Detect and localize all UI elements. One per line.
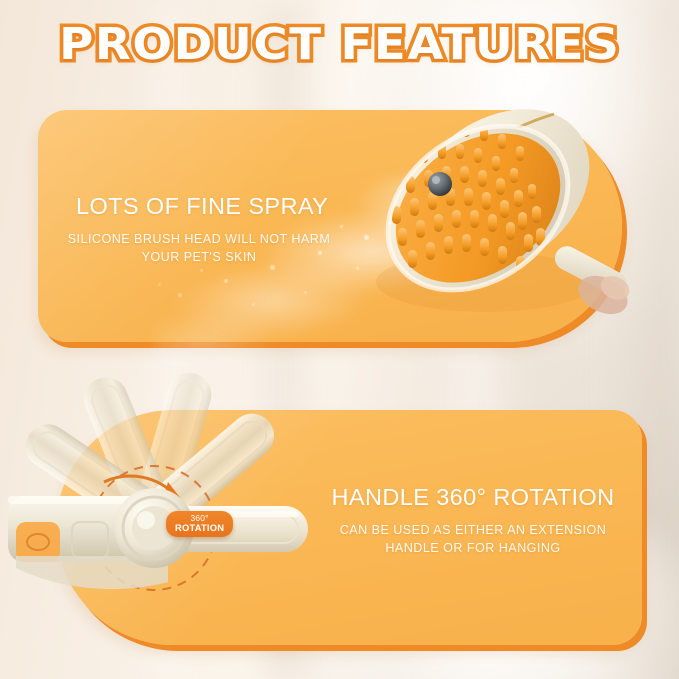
badge-label: ROTATION: [175, 523, 224, 533]
feature-2-subtitle: CAN BE USED AS EITHER AN EXTENSION HANDL…: [328, 522, 618, 558]
feature-1-text: LOTS OF FINE SPRAY SILICONE BRUSH HEAD W…: [54, 193, 344, 267]
feature-2-heading: HANDLE 360° ROTATION: [328, 484, 618, 511]
product-features-infographic: PRODUCT FEATURES: [0, 0, 679, 679]
title-container: PRODUCT FEATURES: [0, 22, 679, 68]
feature-1-subtitle-line-2: YOUR PET'S SKIN: [142, 250, 257, 264]
feature-1-subtitle: SILICONE BRUSH HEAD WILL NOT HARM YOUR P…: [54, 231, 344, 267]
feature-2-text: HANDLE 360° ROTATION CAN BE USED AS EITH…: [328, 484, 618, 558]
feature-2-subtitle-line-2: HANDLE OR FOR HANGING: [385, 541, 560, 555]
badge-360-rotation: 360° ROTATION: [166, 511, 233, 537]
page-title: PRODUCT FEATURES: [59, 22, 620, 68]
feature-1-subtitle-line-1: SILICONE BRUSH HEAD WILL NOT HARM: [68, 232, 331, 246]
feature-1-heading: LOTS OF FINE SPRAY: [54, 193, 344, 220]
feature-2-subtitle-line-1: CAN BE USED AS EITHER AN EXTENSION: [340, 523, 607, 537]
